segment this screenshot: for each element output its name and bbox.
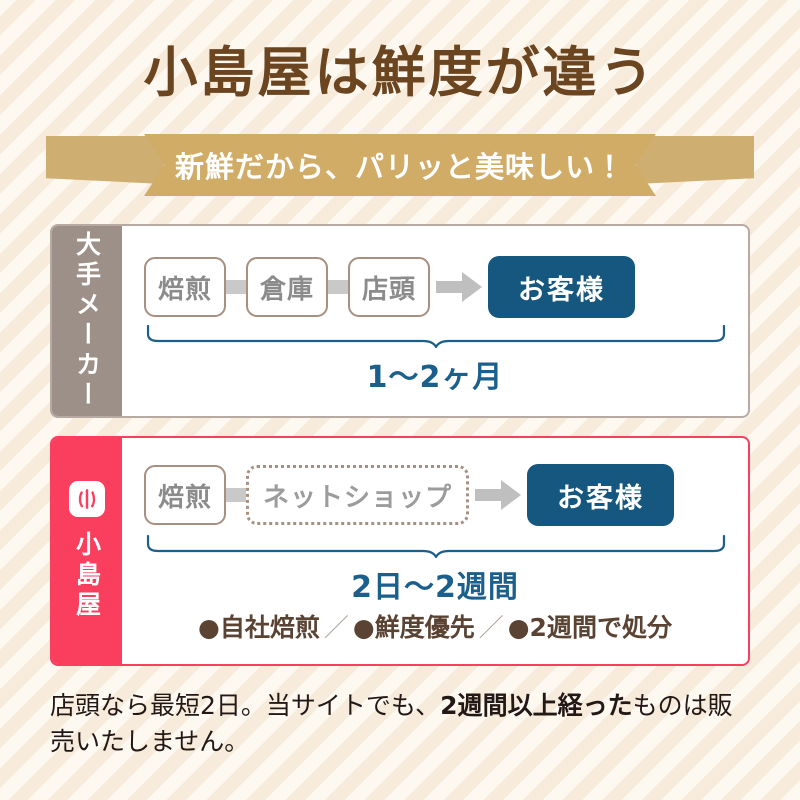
step-box-roast: 焙煎 bbox=[144, 257, 226, 317]
duration-label-major-maker: 1〜2ヶ月 bbox=[122, 352, 748, 396]
step-connector bbox=[226, 488, 246, 502]
arrow-right-icon bbox=[436, 272, 482, 302]
page-title-wrapper: 小島屋は鮮度が違う bbox=[0, 46, 800, 100]
step-box-warehouse: 倉庫 bbox=[246, 257, 328, 317]
feature-bullets: ●自社焙煎／●鮮度優先／●2週間で処分 bbox=[122, 608, 748, 644]
side-label-text: 大手メーカー bbox=[75, 231, 100, 411]
feature-bullet-item: ●2週間で処分 bbox=[508, 613, 672, 642]
customer-box: お客様 bbox=[488, 256, 635, 318]
step-connector bbox=[226, 280, 246, 294]
duration-label-kojimaya: 2日〜2週間 bbox=[122, 562, 748, 606]
flow-row-body: 焙煎 ネットショップ お客様 2日〜2週間 ●自社焙煎／●鮮度優先／●2週間で処… bbox=[122, 438, 748, 664]
customer-box: お客様 bbox=[527, 464, 674, 526]
footer-text-emphasis: 2週間以上経った bbox=[440, 691, 632, 720]
ribbon-tail-right bbox=[636, 136, 754, 184]
row-side-label-major-maker: 大手メーカー bbox=[52, 226, 122, 416]
step-box-netshop: ネットショップ bbox=[246, 465, 469, 525]
feature-bullet-item: ●自社焙煎 bbox=[198, 613, 320, 642]
bullet-separator: ／ bbox=[320, 613, 353, 642]
duration-brace bbox=[144, 324, 728, 348]
flow-row-major-maker: 大手メーカー 焙煎 倉庫 店頭 お客様 1〜2ヶ月 bbox=[50, 224, 750, 418]
footer-text-part1: 店頭なら最短2日。当サイトでも、 bbox=[50, 691, 440, 720]
step-box-storefront: 店頭 bbox=[348, 257, 430, 317]
duration-brace bbox=[144, 534, 728, 558]
kojimaya-logo-icon bbox=[69, 481, 105, 517]
flow-steps-kojimaya: 焙煎 ネットショップ お客様 bbox=[144, 464, 728, 526]
flow-steps-major-maker: 焙煎 倉庫 店頭 お客様 bbox=[144, 256, 728, 318]
ribbon-banner: 新鮮だから、パリッと美味しい！ bbox=[46, 134, 754, 196]
flow-row-kojimaya: 小島屋 焙煎 ネットショップ お客様 2日〜2週間 ●自社焙煎／●鮮度優先／●2… bbox=[50, 436, 750, 666]
ribbon-tail-left bbox=[46, 136, 164, 184]
ribbon-text: 新鮮だから、パリッと美味しい！ bbox=[175, 144, 625, 186]
footer-note: 店頭なら最短2日。当サイトでも、2週間以上経ったものは販売いたしません。 bbox=[50, 688, 756, 759]
arrow-right-icon bbox=[475, 480, 521, 510]
flow-row-body: 焙煎 倉庫 店頭 お客様 1〜2ヶ月 bbox=[122, 226, 748, 416]
ribbon-body: 新鮮だから、パリッと美味しい！ bbox=[144, 134, 656, 196]
step-connector bbox=[328, 280, 348, 294]
page-title: 小島屋は鮮度が違う bbox=[0, 46, 800, 100]
step-box-roast: 焙煎 bbox=[144, 465, 226, 525]
side-label-text: 小島屋 bbox=[75, 531, 100, 621]
bullet-separator: ／ bbox=[475, 613, 508, 642]
feature-bullet-item: ●鮮度優先 bbox=[353, 613, 475, 642]
row-side-label-kojimaya: 小島屋 bbox=[52, 438, 122, 664]
